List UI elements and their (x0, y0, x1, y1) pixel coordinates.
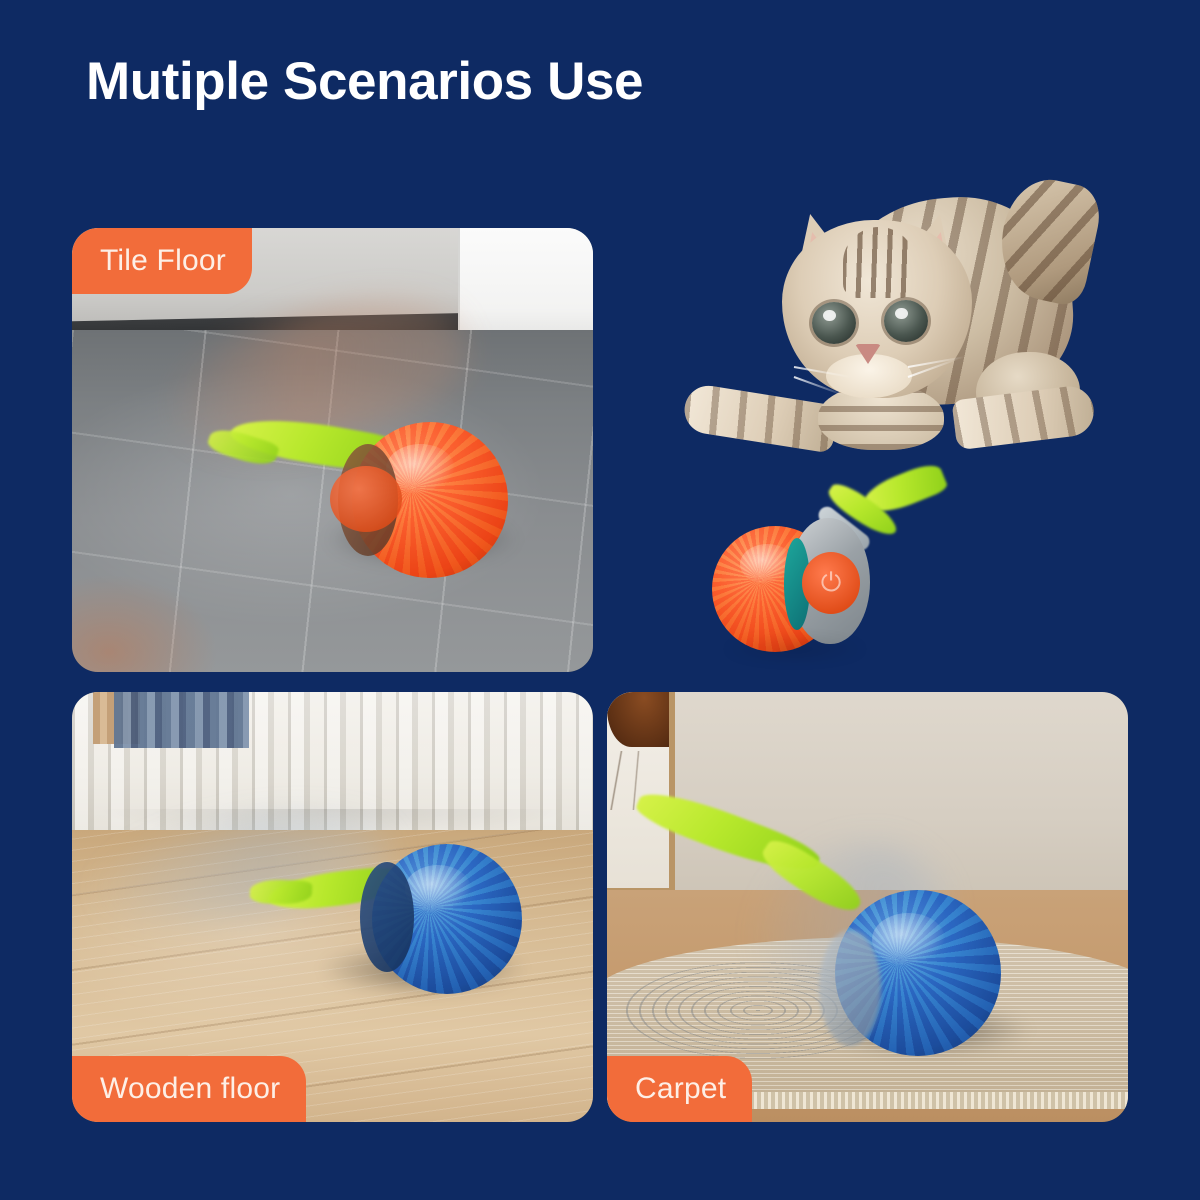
cat-left-eye (812, 302, 856, 344)
cat-front-left-paw (681, 382, 839, 453)
cat-forehead-stripes (843, 227, 915, 298)
ball-collar-ring (360, 862, 414, 972)
badge-tile-floor: Tile Floor (72, 228, 252, 294)
power-icon: ⏻ (821, 570, 842, 596)
page-title: Mutiple Scenarios Use (86, 53, 643, 111)
ball-power-button: ⏻ (802, 552, 860, 614)
scenario-panel-wooden-floor: Wooden floor (72, 692, 593, 1122)
feather-wand-tip (250, 879, 313, 905)
badge-carpet: Carpet (607, 1056, 752, 1122)
curtain-blue-fold (114, 692, 249, 748)
toy-shadow (720, 636, 870, 662)
tile-floor-photo (72, 228, 593, 672)
hero-kitten (676, 176, 1096, 476)
floor-warm-tile (72, 574, 218, 672)
cat-right-eye (884, 300, 928, 342)
hero-product-toy: ⏻ (706, 468, 956, 658)
scenario-panel-carpet: Carpet (607, 692, 1128, 1122)
toy-ball-blue (835, 890, 1001, 1056)
ball-collar-ring (819, 930, 881, 1046)
ball-highlight (872, 913, 945, 966)
badge-wooden-floor: Wooden floor (72, 1056, 306, 1122)
cat-paw-stripes (681, 382, 839, 453)
cabinet (458, 228, 593, 343)
wooden-frame-panel (607, 692, 675, 894)
toy-ball-blue (372, 844, 522, 994)
toy-ball-orange (352, 422, 508, 578)
ball-wheel-hub (330, 466, 402, 532)
scenario-panel-tile-floor: Tile Floor (72, 228, 593, 672)
frame-dark-top (607, 692, 669, 747)
ball-highlight (405, 865, 471, 913)
